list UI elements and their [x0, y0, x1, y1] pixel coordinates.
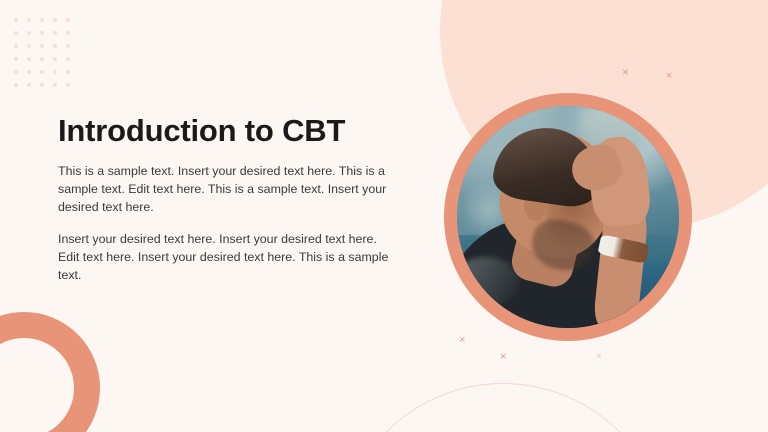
dot-grid-decoration [14, 18, 79, 96]
grid-dot [14, 57, 18, 61]
grid-dot [66, 31, 70, 35]
grid-dot [14, 31, 18, 35]
grid-dot [53, 57, 57, 61]
grid-dot [53, 70, 57, 74]
body-paragraph-1: This is a sample text. Insert your desir… [58, 162, 398, 216]
grid-dot [14, 18, 18, 22]
grid-dot [40, 44, 44, 48]
body-paragraph-2: Insert your desired text here. Insert yo… [58, 230, 398, 284]
faint-circle-outline-decoration [338, 383, 668, 432]
grid-dot [66, 70, 70, 74]
x-sparkle-icon: × [500, 352, 506, 363]
x-sparkle-icon: × [622, 66, 629, 78]
grid-dot [66, 44, 70, 48]
x-sparkle-icon: × [596, 352, 602, 362]
grid-dot [27, 57, 31, 61]
grid-dot [40, 18, 44, 22]
page-title: Introduction to CBT [58, 114, 398, 148]
grid-dot [40, 31, 44, 35]
salmon-ring-decoration [0, 312, 100, 432]
photo-image [457, 106, 679, 328]
grid-dot [27, 31, 31, 35]
grid-dot [27, 70, 31, 74]
grid-dot [27, 44, 31, 48]
x-sparkle-icon: × [666, 71, 672, 82]
grid-dot [27, 83, 31, 87]
text-column: Introduction to CBT This is a sample tex… [58, 114, 398, 284]
grid-dot [53, 44, 57, 48]
grid-dot [40, 83, 44, 87]
grid-dot [14, 70, 18, 74]
grid-dot [66, 18, 70, 22]
grid-dot [40, 57, 44, 61]
grid-dot [14, 83, 18, 87]
x-sparkle-icon: × [459, 335, 465, 346]
photo-person-shoulder-highlight [457, 257, 519, 306]
grid-dot [27, 18, 31, 22]
grid-dot [53, 83, 57, 87]
grid-dot [40, 70, 44, 74]
slide-canvas: × × × × × Introduction to CBT This is a … [0, 0, 768, 432]
grid-dot [53, 18, 57, 22]
grid-dot [66, 57, 70, 61]
grid-dot [53, 31, 57, 35]
grid-dot [14, 44, 18, 48]
photo-circle-frame [444, 93, 692, 341]
grid-dot [66, 83, 70, 87]
